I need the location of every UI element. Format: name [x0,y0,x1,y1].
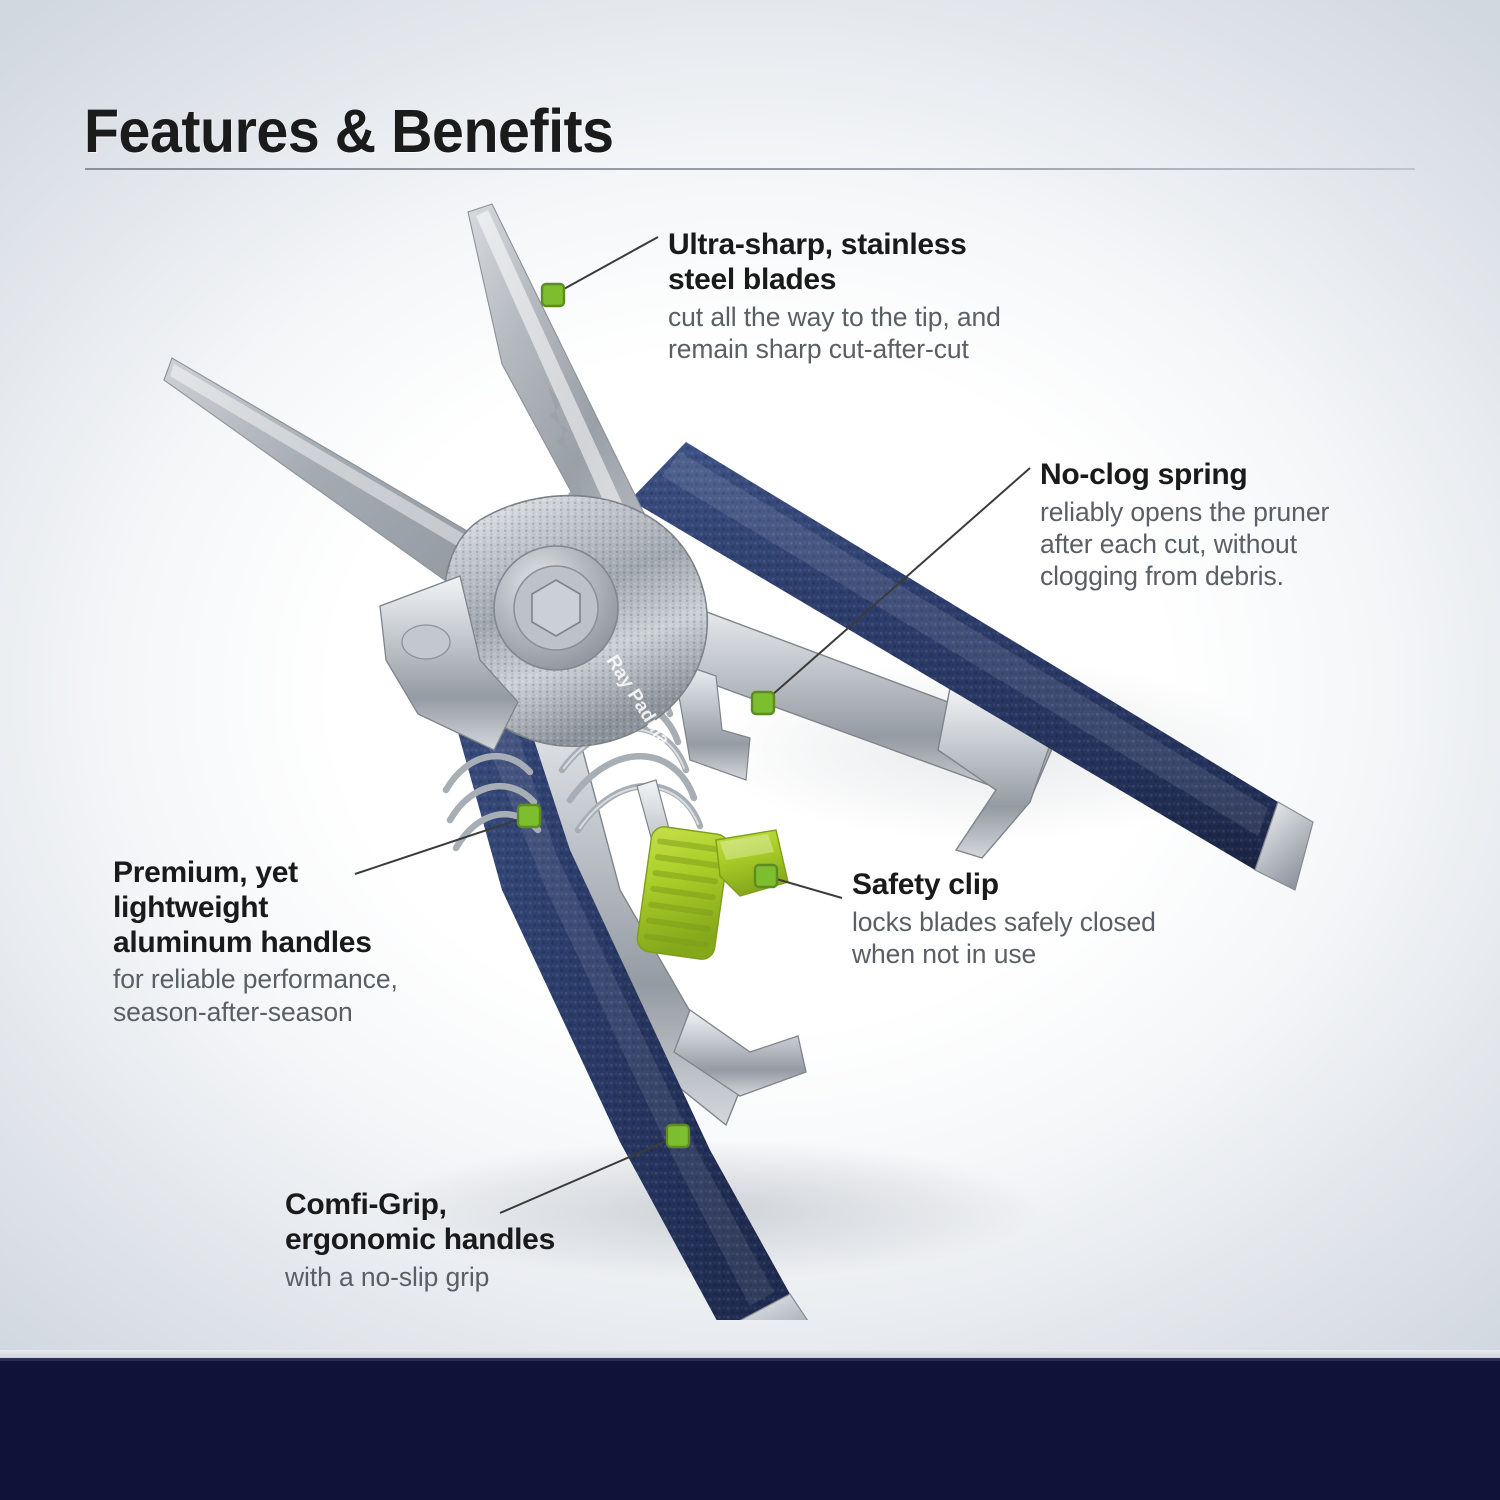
infographic-page: Features & Benefits [0,0,1500,1500]
callout-heading: No-clog spring [1040,458,1370,493]
callout-body: reliably opens the pruner after each cut… [1040,496,1370,593]
callout-body: locks blades safely closed when not in u… [852,906,1182,971]
bottom-bar-edge [0,1350,1500,1358]
page-title: Features & Benefits [84,96,614,166]
callout-safety-clip: Safety clip locks blades safely closed w… [852,868,1182,970]
callout-body: cut all the way to the tip, and remain s… [668,301,1068,366]
callout-body: with a no-slip grip [285,1261,645,1293]
title-divider [85,168,1415,170]
bottom-brand-bar [0,1358,1500,1500]
callout-aluminum-handles: Premium, yet lightweight aluminum handle… [113,856,483,1028]
callout-heading: Safety clip [852,868,1182,903]
callout-body: for reliable performance, season-after-s… [113,963,483,1028]
callout-no-clog-spring: No-clog spring reliably opens the pruner… [1040,458,1370,593]
callout-ultra-sharp-blades: Ultra-sharp, stainless steel blades cut … [668,228,1068,365]
callout-heading: Comfi-Grip, ergonomic handles [285,1188,645,1258]
callout-heading: Ultra-sharp, stainless steel blades [668,228,1068,298]
callout-heading: Premium, yet lightweight aluminum handle… [113,856,483,960]
safety-clip [636,780,788,961]
header: Features & Benefits [0,0,1500,180]
callout-comfi-grip: Comfi-Grip, ergonomic handles with a no-… [285,1188,645,1293]
jaw-rivet [402,625,450,659]
